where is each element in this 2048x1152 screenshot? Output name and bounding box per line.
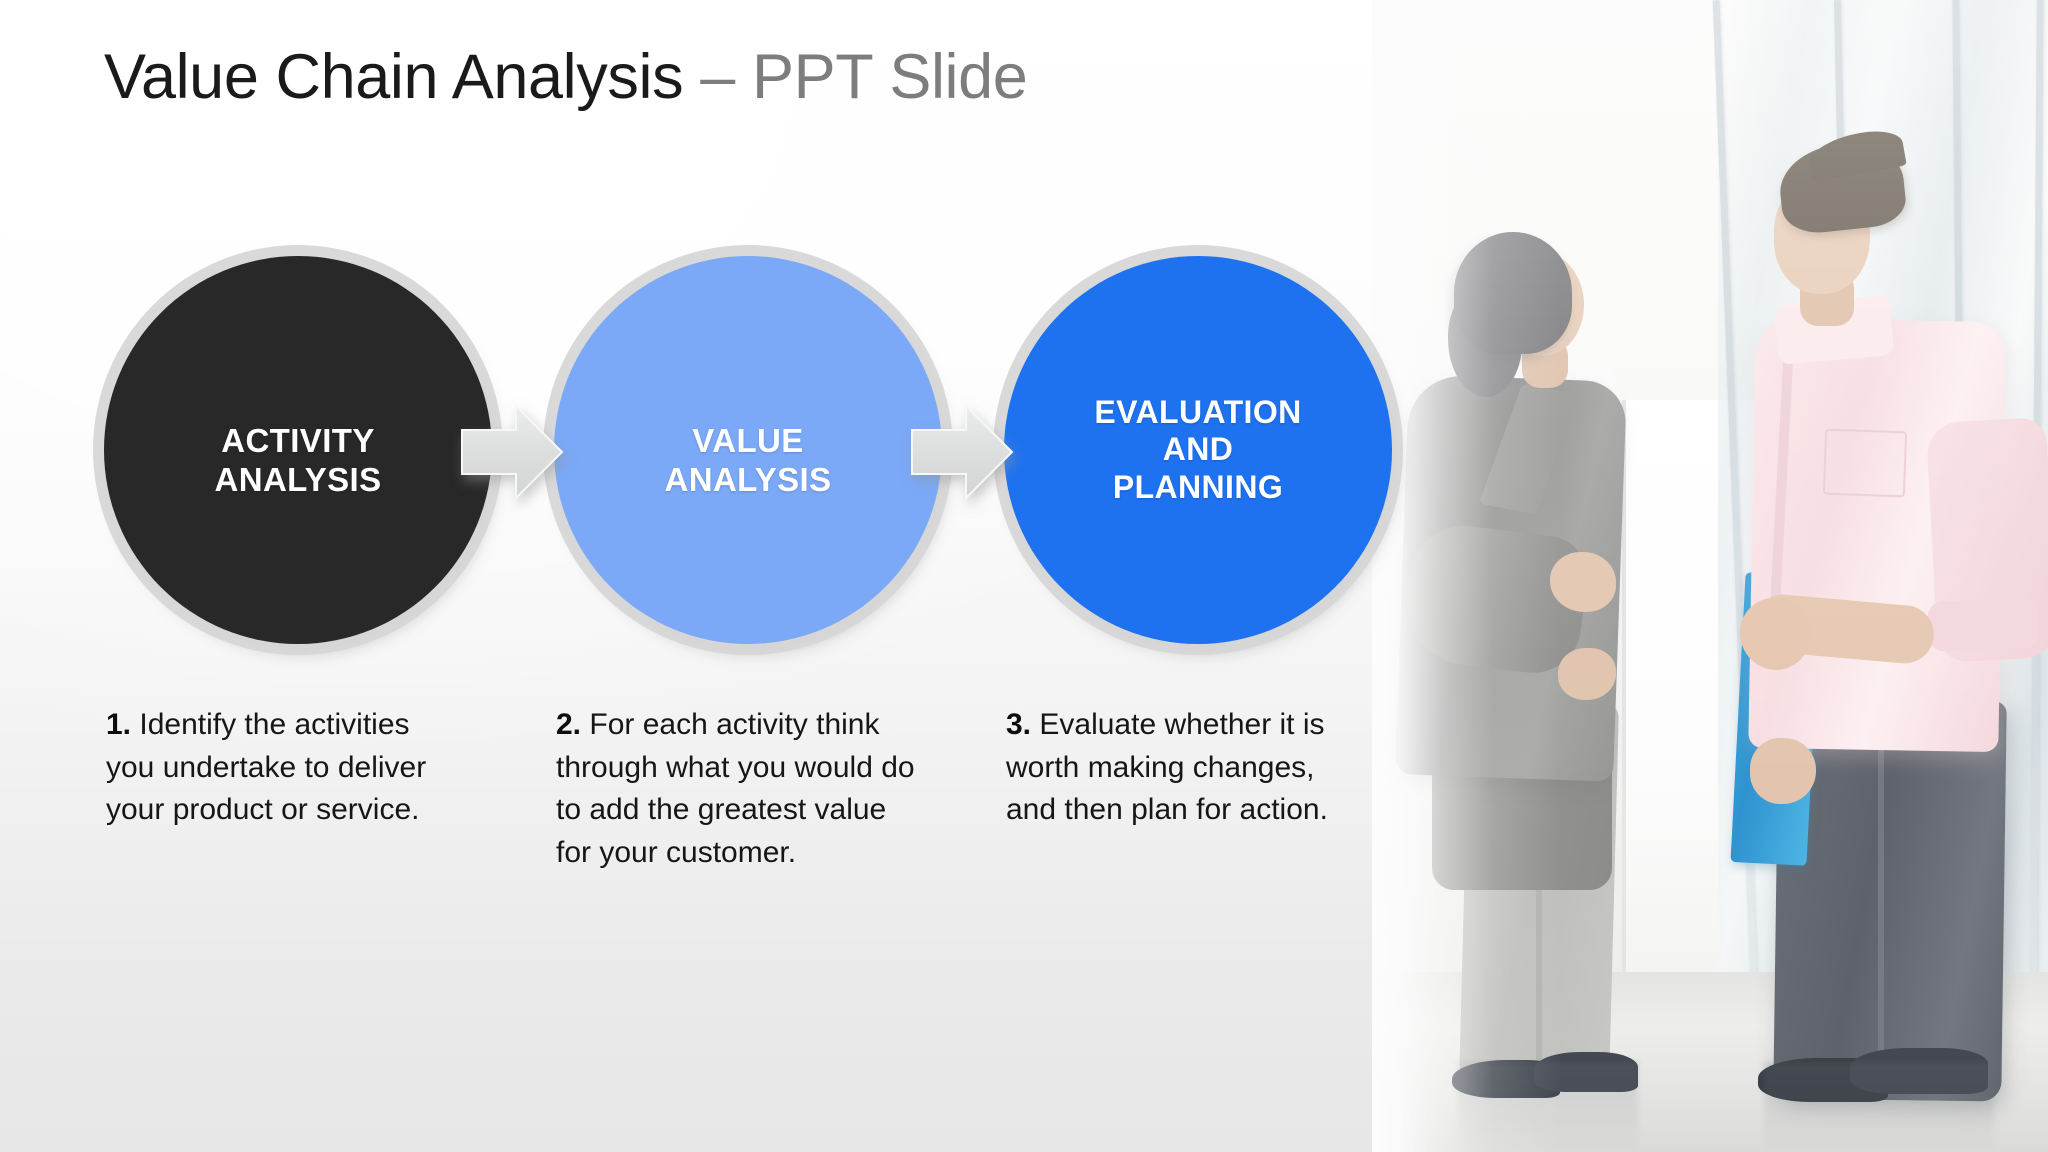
- slide-canvas: Value Chain Analysis – PPT Slide ACTIVIT…: [0, 0, 2048, 1152]
- value-chain-diagram: ACTIVITYANALYSIS VALUEANALYSIS: [0, 252, 1400, 652]
- step-label-line-1: VALUE: [692, 422, 803, 459]
- step-label-line-1: EVALUATION: [1094, 394, 1301, 430]
- caption-step-3: 3. Evaluate whether it is worth making c…: [1006, 704, 1366, 832]
- step-label-line-2: ANALYSIS: [214, 461, 381, 498]
- step-label-evaluation-and-planning: EVALUATIONANDPLANNING: [1066, 394, 1329, 506]
- step-circle-activity-analysis[interactable]: ACTIVITYANALYSIS: [104, 256, 492, 644]
- page-title: Value Chain Analysis – PPT Slide: [104, 42, 1027, 113]
- page-title-main: Value Chain Analysis: [104, 42, 683, 112]
- caption-text-3: Evaluate whether it is worth making chan…: [1006, 708, 1328, 826]
- chevron-arrow-right-icon: [460, 400, 564, 504]
- caption-number-3: 3.: [1006, 708, 1031, 741]
- step-circle-evaluation-and-planning[interactable]: EVALUATIONANDPLANNING: [1004, 256, 1392, 644]
- step-label-line-1: ACTIVITY: [221, 422, 375, 459]
- office-photo: [1372, 0, 2048, 1152]
- photo-edge-fade: [1372, 0, 2048, 1152]
- page-title-accent: – PPT Slide: [683, 42, 1027, 112]
- caption-step-1: 1. Identify the activities you undertake…: [106, 704, 466, 832]
- step-label-value-analysis: VALUEANALYSIS: [636, 422, 859, 499]
- chevron-arrow-right-icon: [910, 400, 1014, 504]
- step-circle-value-analysis[interactable]: VALUEANALYSIS: [554, 256, 942, 644]
- caption-number-1: 1.: [106, 708, 131, 741]
- step-label-line-2: AND: [1163, 431, 1234, 467]
- caption-text-1: Identify the activities you undertake to…: [106, 708, 426, 826]
- step-label-line-2: ANALYSIS: [664, 461, 831, 498]
- caption-step-2: 2. For each activity think through what …: [556, 704, 916, 874]
- step-label-line-3: PLANNING: [1113, 469, 1283, 505]
- caption-number-2: 2.: [556, 708, 581, 741]
- caption-text-2: For each activity think through what you…: [556, 708, 915, 869]
- caption-row: 1. Identify the activities you undertake…: [0, 704, 1400, 934]
- step-label-activity-analysis: ACTIVITYANALYSIS: [186, 422, 409, 499]
